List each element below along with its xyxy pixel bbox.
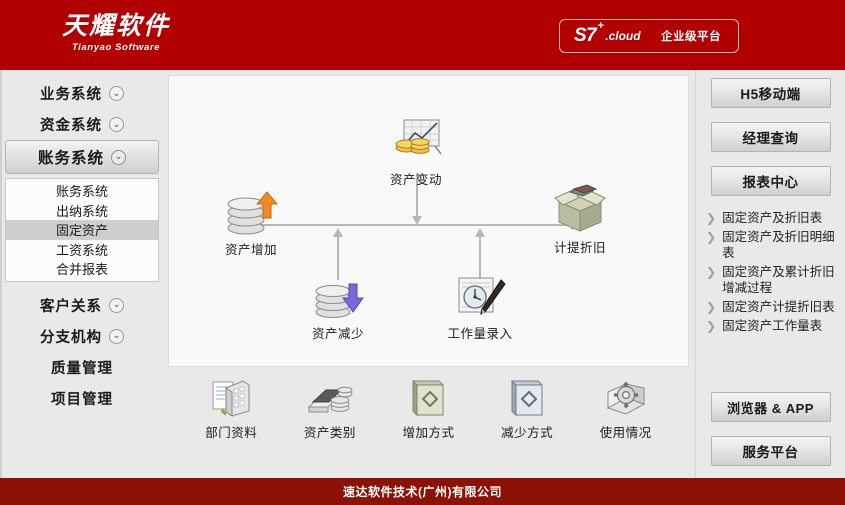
flow-node-label: 资产减少 (283, 323, 393, 342)
submenu-item-label: 合并报表 (56, 259, 108, 278)
badge-s7-label: S7 + (574, 25, 596, 47)
browser-app-button[interactable]: 浏览器 & APP (711, 392, 831, 422)
shortcut-label: 减少方式 (481, 422, 573, 441)
badge-enterprise-label: 企业级平台 (661, 28, 721, 44)
open-box-icon (525, 182, 635, 234)
right-sidebar-bottom-buttons: 浏览器 & APP 服务平台 (706, 392, 835, 466)
report-link-label: 固定资产及折旧表 (722, 210, 822, 226)
flow-node-label: 计提折旧 (525, 237, 635, 256)
h5-mobile-button[interactable]: H5移动端 (711, 78, 831, 108)
shortcut-label: 增加方式 (382, 422, 474, 441)
sidebar-item-accounting-system[interactable]: 账务系统 ⌄ (5, 140, 159, 174)
badge-plus-superscript: + (597, 20, 603, 32)
submenu-item-payroll[interactable]: 工资系统 (6, 240, 158, 260)
sidebar-item-label: 项目管理 (51, 388, 113, 409)
app-body: 业务系统 ⌄ 资金系统 ⌄ 账务系统 ⌄ 账务系统 出纳系统 固定资产 (0, 70, 845, 478)
accounting-submenu: 账务系统 出纳系统 固定资产 工资系统 合并报表 (5, 178, 159, 282)
flow-node-asset-increase[interactable]: 资产增加 (196, 184, 306, 258)
chevron-down-icon: ⌄ (111, 150, 126, 165)
report-link-depreciation-provision[interactable]: ❯ 固定资产计提折旧表 (706, 299, 835, 315)
sidebar-item-business-system[interactable]: 业务系统 ⌄ (2, 78, 162, 109)
spacer (2, 282, 162, 290)
report-link-label: 固定资产及折旧明细表 (722, 229, 835, 261)
sidebar-item-label: 分支机构 (40, 326, 102, 347)
submenu-item-label: 工资系统 (56, 240, 108, 259)
shortcut-department-info[interactable]: 部门资料 (185, 376, 277, 441)
logo-english-text: Tianyao Software (62, 43, 170, 53)
shortcut-asset-category[interactable]: 资产类别 (284, 376, 376, 441)
chevron-down-icon: ⌄ (109, 86, 124, 101)
sidebar-item-quality-management[interactable]: 质量管理 (2, 352, 162, 383)
logo-chinese-text: 天耀软件 (62, 14, 170, 39)
stacked-coins-icon (284, 376, 376, 418)
sidebar-item-label: 账务系统 (38, 146, 104, 168)
app-footer: 速达软件技术(广州)有限公司 (0, 478, 845, 505)
flow-node-label: 资产增加 (196, 239, 306, 258)
service-platform-button[interactable]: 服务平台 (711, 436, 831, 466)
green-book-icon (382, 376, 474, 418)
chevron-right-icon: ❯ (706, 210, 716, 226)
flow-node-label: 工作量录入 (425, 323, 535, 342)
sidebar-item-fund-system[interactable]: 资金系统 ⌄ (2, 109, 162, 140)
main-content: 资产变动 (162, 70, 695, 478)
submenu-item-label: 账务系统 (56, 181, 108, 200)
chevron-right-icon: ❯ (706, 264, 716, 280)
application-window: 天耀软件 Tianyao Software S7 + .cloud 企业级平台 … (0, 0, 845, 505)
chevron-right-icon: ❯ (706, 229, 716, 245)
report-link-workload-table[interactable]: ❯ 固定资产工作量表 (706, 318, 835, 334)
chevron-down-icon: ⌄ (109, 117, 124, 132)
badge-cloud-label: .cloud (605, 29, 640, 43)
report-link-label: 固定资产及累计折旧增减过程 (722, 264, 835, 296)
sidebar-item-label: 资金系统 (40, 114, 102, 135)
left-sidebar: 业务系统 ⌄ 资金系统 ⌄ 账务系统 ⌄ 账务系统 出纳系统 固定资产 (2, 70, 162, 478)
submenu-item-cashier[interactable]: 出纳系统 (6, 201, 158, 221)
sidebar-item-branch-office[interactable]: 分支机构 ⌄ (2, 321, 162, 352)
flow-node-label: 资产变动 (361, 169, 471, 188)
chart-coins-icon (361, 114, 471, 166)
report-link-depreciation-detail[interactable]: ❯ 固定资产及折旧明细表 (706, 229, 835, 261)
chevron-right-icon: ❯ (706, 299, 716, 315)
app-header: 天耀软件 Tianyao Software S7 + .cloud 企业级平台 (0, 0, 845, 70)
sidebar-item-customer-relations[interactable]: 客户关系 ⌄ (2, 290, 162, 321)
submenu-item-fixed-assets[interactable]: 固定资产 (6, 220, 158, 240)
clock-pen-icon (425, 268, 535, 320)
coins-up-arrow-icon (196, 184, 306, 236)
shortcut-label: 部门资料 (185, 422, 277, 441)
report-link-list: ❯ 固定资产及折旧表 ❯ 固定资产及折旧明细表 ❯ 固定资产及累计折旧增减过程 … (706, 210, 835, 334)
sidebar-item-label: 业务系统 (40, 83, 102, 104)
flow-node-asset-change[interactable]: 资产变动 (361, 114, 471, 188)
shortcut-label: 资产类别 (284, 422, 376, 441)
blue-book-icon (481, 376, 573, 418)
product-badge: S7 + .cloud 企业级平台 (559, 19, 739, 53)
flow-node-depreciation[interactable]: 计提折旧 (525, 182, 635, 256)
shortcut-icon-row: 部门资料 (168, 367, 689, 441)
workflow-panel: 资产变动 (168, 75, 689, 367)
right-sidebar: H5移动端 经理查询 报表中心 ❯ 固定资产及折旧表 ❯ 固定资产及折旧明细表 … (695, 70, 845, 478)
shortcut-usage-status[interactable]: 使用情况 (580, 376, 672, 441)
report-link-label: 固定资产计提折旧表 (722, 299, 835, 315)
flow-node-workload-entry[interactable]: 工作量录入 (425, 268, 535, 342)
report-center-button[interactable]: 报表中心 (711, 166, 831, 196)
chevron-down-icon: ⌄ (109, 329, 124, 344)
footer-company-name: 速达软件技术(广州)有限公司 (343, 483, 502, 500)
sidebar-item-project-management[interactable]: 项目管理 (2, 383, 162, 414)
submenu-item-consolidated-reports[interactable]: 合并报表 (6, 259, 158, 279)
submenu-item-accounting[interactable]: 账务系统 (6, 181, 158, 201)
coins-down-arrow-icon (283, 268, 393, 320)
badge-s7-text: S7 (574, 25, 596, 46)
manager-query-button[interactable]: 经理查询 (711, 122, 831, 152)
gear-book-icon (580, 376, 672, 418)
report-link-depreciation-table[interactable]: ❯ 固定资产及折旧表 (706, 210, 835, 226)
chevron-down-icon: ⌄ (109, 298, 124, 313)
shortcut-decrease-method[interactable]: 减少方式 (481, 376, 573, 441)
chevron-right-icon: ❯ (706, 318, 716, 334)
building-document-icon (185, 376, 277, 418)
shortcut-increase-method[interactable]: 增加方式 (382, 376, 474, 441)
submenu-item-label: 出纳系统 (56, 201, 108, 220)
shortcut-label: 使用情况 (580, 422, 672, 441)
submenu-item-label: 固定资产 (56, 220, 108, 239)
report-link-label: 固定资产工作量表 (722, 318, 822, 334)
logo: 天耀软件 Tianyao Software (62, 14, 170, 53)
flow-node-asset-decrease[interactable]: 资产减少 (283, 268, 393, 342)
report-link-accumulated-depreciation-change[interactable]: ❯ 固定资产及累计折旧增减过程 (706, 264, 835, 296)
sidebar-item-label: 质量管理 (51, 357, 113, 378)
sidebar-item-label: 客户关系 (40, 295, 102, 316)
